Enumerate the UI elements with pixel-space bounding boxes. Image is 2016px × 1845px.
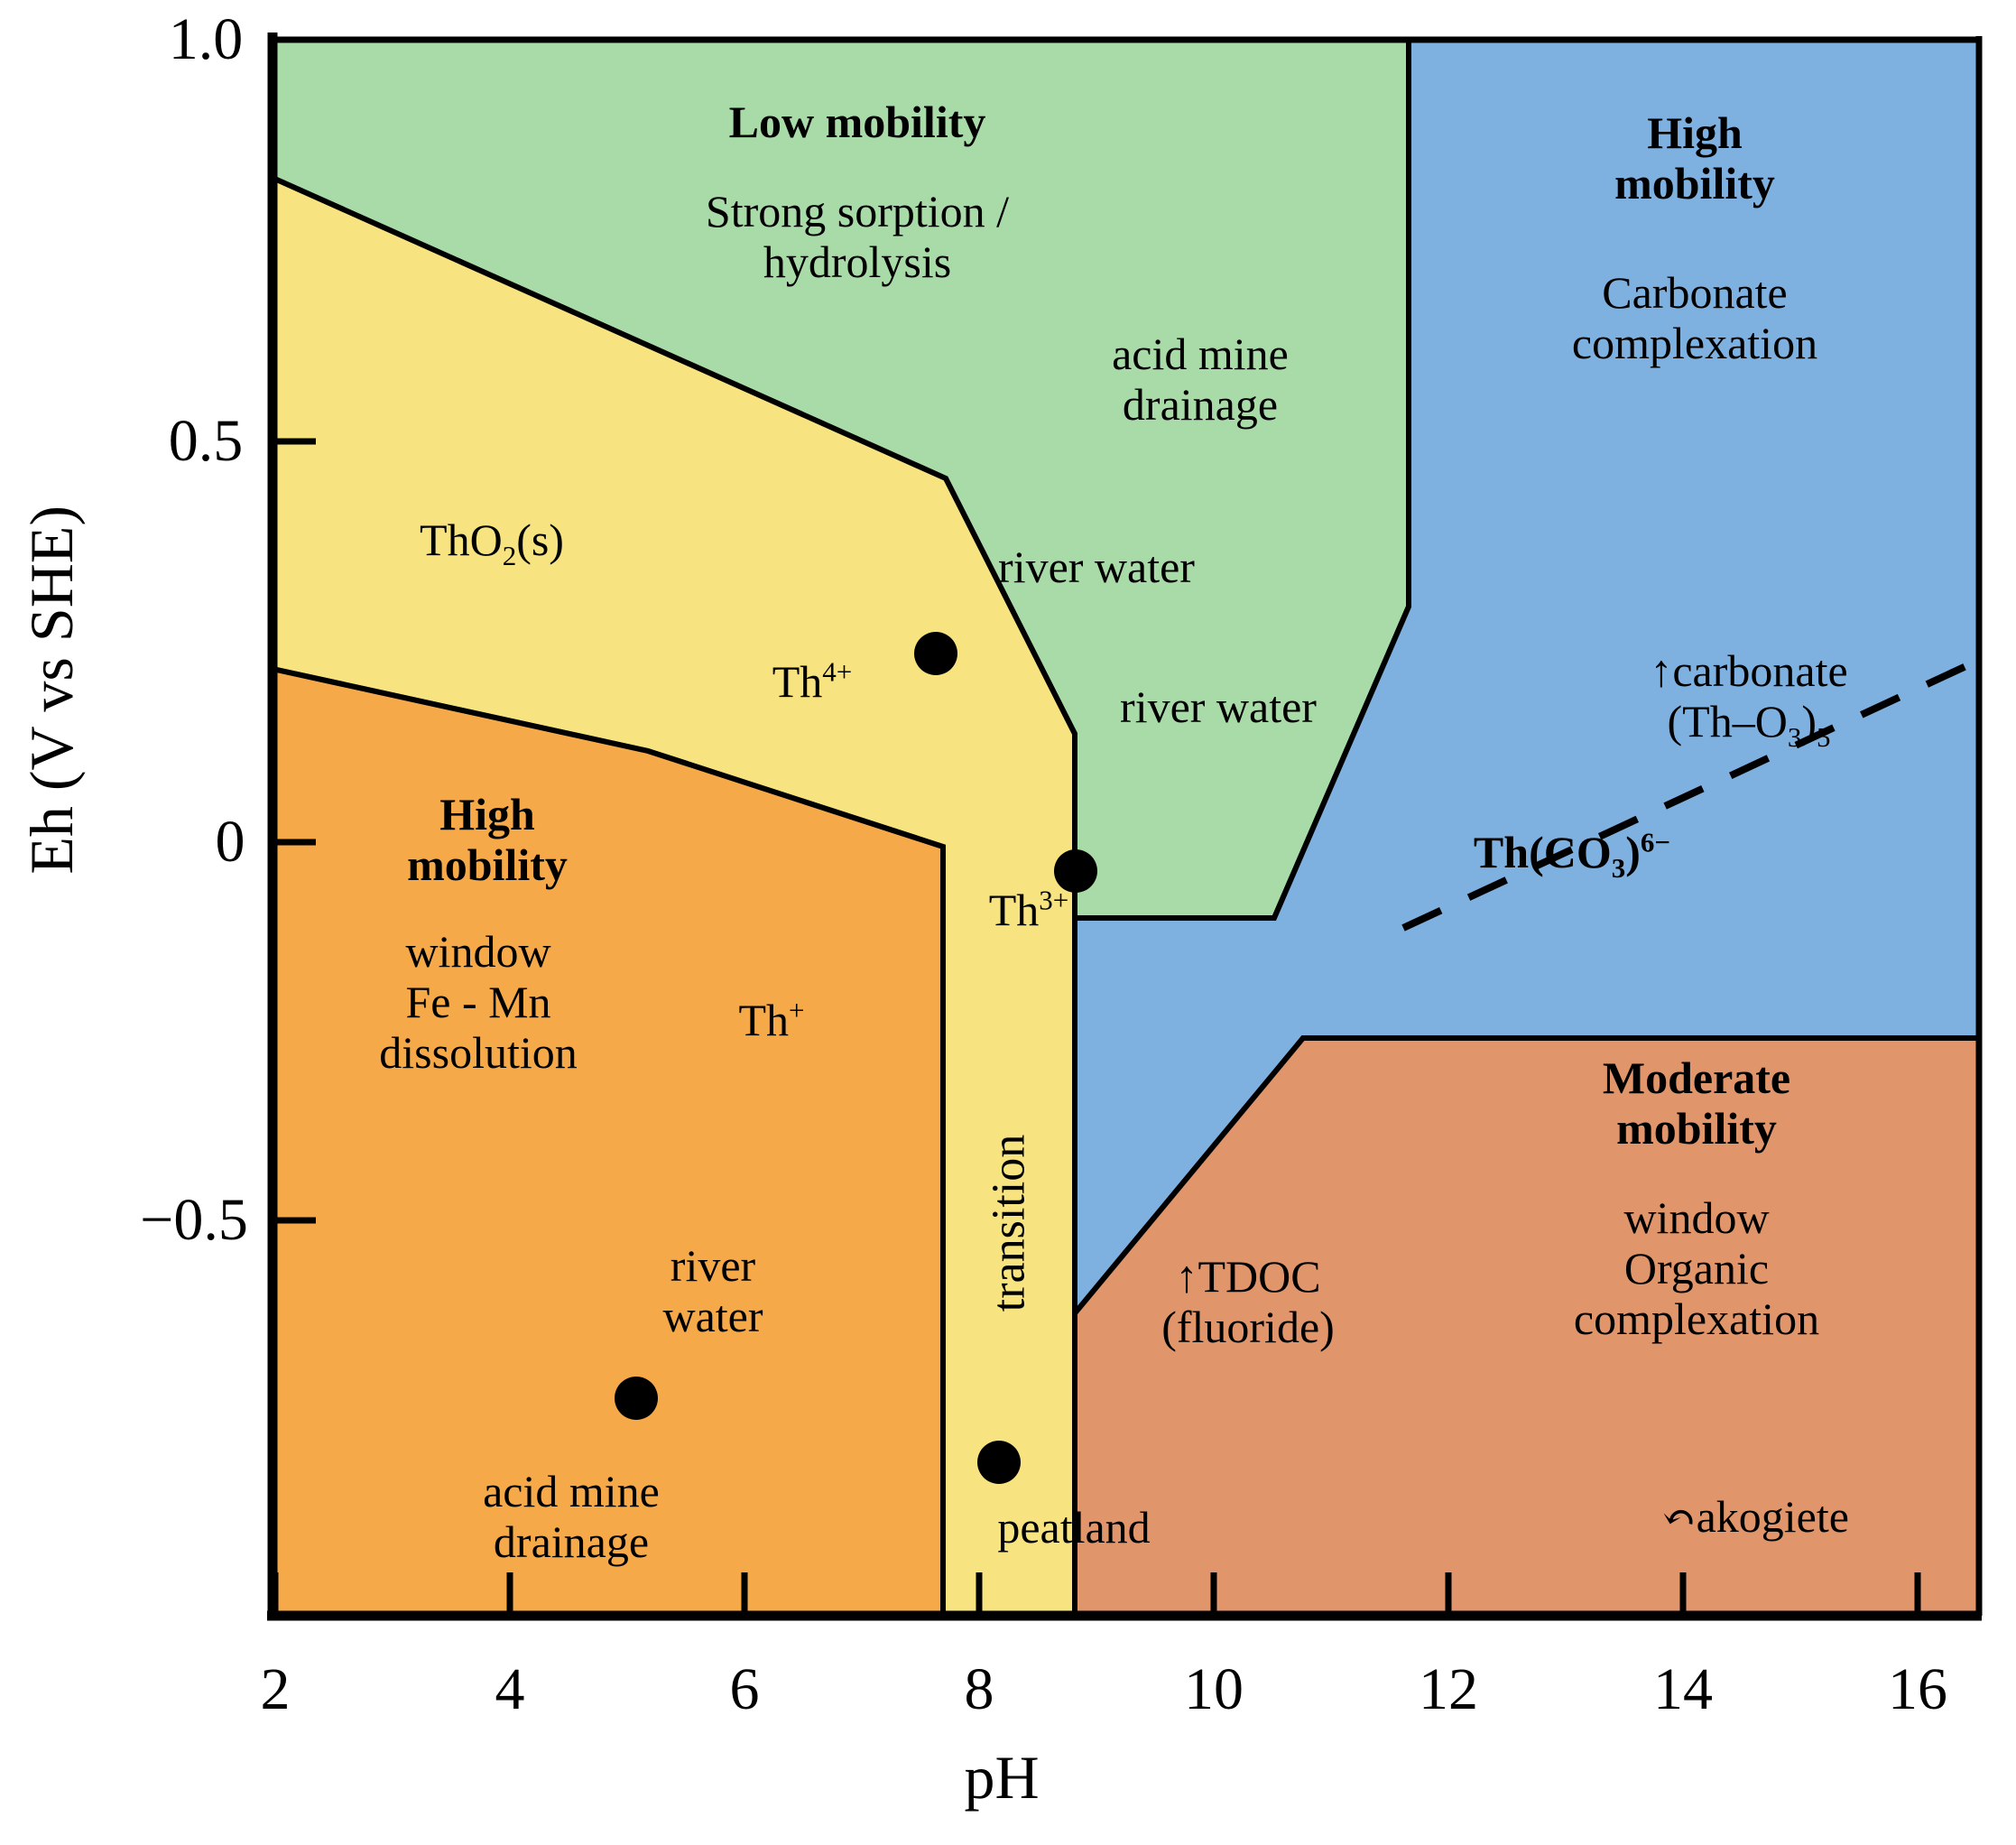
brown-tdoc-annotation: ↑TDOC (fluoride) xyxy=(1161,1251,1335,1352)
thp-superscript: + xyxy=(789,994,804,1025)
blue-species-prefix: Th(CO xyxy=(1474,827,1612,877)
data-point-river-water-1 xyxy=(914,632,957,675)
blue-species-mid: ) xyxy=(1625,827,1641,877)
brown-subtitle-line2: Organic xyxy=(1574,1243,1819,1293)
brown-tdoc-line1: ↑TDOC xyxy=(1161,1251,1335,1302)
blue-species-sup: 6− xyxy=(1641,826,1670,858)
orange-region-title: High mobility xyxy=(407,789,568,890)
green-region-title: Low mobility xyxy=(729,97,986,147)
th3plus-species-label: Th3+ xyxy=(989,885,1069,935)
orange-acid-mine-drainage-label: acid mine drainage xyxy=(483,1466,660,1567)
green-river-water-label-2: river water xyxy=(1120,681,1317,732)
x-tick-label-12: 12 xyxy=(1419,1655,1478,1724)
data-point-peatland xyxy=(977,1441,1021,1484)
thplus-species-label: Th+ xyxy=(738,995,804,1045)
tho2-prefix: ThO xyxy=(420,515,503,565)
blue-carbonate-line2: (Th–O3)5 xyxy=(1650,696,1847,754)
blue-region-title: High mobility xyxy=(1614,107,1775,209)
blue-carbonate-annotation: ↑carbonate (Th–O3)5 xyxy=(1650,645,1847,754)
y-tick-label-1.0: 1.0 xyxy=(169,5,244,74)
transition-zone-label: transition xyxy=(983,1135,1036,1312)
tho2-subscript: 2 xyxy=(503,540,517,571)
y-tick-label--0.5: −0.5 xyxy=(140,1186,248,1255)
orange-title-line2: mobility xyxy=(407,839,568,890)
orange-amd-line1: acid mine xyxy=(483,1466,660,1516)
curved-arrow-icon: ↷ xyxy=(1656,1491,1701,1544)
brown-title-line2: mobility xyxy=(1603,1103,1790,1154)
x-tick-label-8: 8 xyxy=(965,1655,994,1724)
x-tick-label-4: 4 xyxy=(495,1655,525,1724)
x-axis-title: pH xyxy=(964,1742,1039,1813)
blue-species-sub: 3 xyxy=(1612,852,1626,884)
blue-species-label: Th(CO3)6− xyxy=(1474,827,1670,885)
blue-title-line2: mobility xyxy=(1614,158,1775,209)
blue-carb-sub1: 3 xyxy=(1788,721,1802,753)
orange-river-water-label: river water xyxy=(662,1240,763,1341)
brown-region-subtitle: window Organic complexation xyxy=(1574,1192,1819,1344)
tho2-species-label: ThO2(s) xyxy=(420,515,564,572)
green-river-water-label-1: river water xyxy=(998,542,1195,592)
orange-subtitle-line2: Fe - Mn xyxy=(379,977,577,1027)
green-region-subtitle: Strong sorption / hydrolysis xyxy=(706,186,1009,287)
th3-prefix: Th xyxy=(989,885,1040,935)
orange-amd-line2: drainage xyxy=(483,1516,660,1567)
x-tick-label-2: 2 xyxy=(261,1655,291,1724)
blue-subtitle-line1: Carbonate xyxy=(1572,267,1817,318)
brown-subtitle-line1: window xyxy=(1574,1192,1819,1243)
th4plus-species-label: Th4+ xyxy=(772,656,853,707)
th4-prefix: Th xyxy=(772,656,823,707)
eh-ph-diagram: 1.0 0.5 0 −0.5 2 4 6 8 10 12 14 16 Eh (V… xyxy=(0,0,2016,1845)
blue-carb-sub2: 5 xyxy=(1817,721,1831,753)
orange-river-line1: river xyxy=(662,1240,763,1291)
blue-carb-prefix: (Th–O xyxy=(1668,696,1788,746)
y-axis-title: Eh (V vs SHE) xyxy=(16,505,88,875)
orange-region-subtitle: window Fe - Mn dissolution xyxy=(379,926,577,1078)
brown-subtitle-line3: complexation xyxy=(1574,1293,1819,1344)
y-tick-label-0.5: 0.5 xyxy=(169,407,244,476)
akogiete-text: akogiete xyxy=(1697,1491,1849,1542)
x-tick-label-10: 10 xyxy=(1184,1655,1244,1724)
green-amd-line1: acid mine xyxy=(1112,329,1289,379)
y-tick-label-0: 0 xyxy=(216,808,245,876)
orange-subtitle-line3: dissolution xyxy=(379,1027,577,1078)
th4-superscript: 4+ xyxy=(822,655,852,687)
green-subtitle-line2: hydrolysis xyxy=(706,236,1009,287)
green-amd-line2: drainage xyxy=(1112,379,1289,430)
th3-superscript: 3+ xyxy=(1039,884,1068,915)
orange-title-line1: High xyxy=(407,789,568,839)
brown-region-title: Moderate mobility xyxy=(1603,1052,1790,1154)
green-acid-mine-drainage-label: acid mine drainage xyxy=(1112,329,1289,430)
brown-tdoc-line2: (fluoride) xyxy=(1161,1302,1335,1352)
brown-akogiete-label: ↷akogiete xyxy=(1661,1491,1849,1542)
thp-prefix: Th xyxy=(738,995,789,1045)
blue-region-subtitle: Carbonate complexation xyxy=(1572,267,1817,368)
green-subtitle-line1: Strong sorption / xyxy=(706,186,1009,236)
tho2-suffix: (s) xyxy=(516,515,564,565)
x-tick-label-16: 16 xyxy=(1888,1655,1947,1724)
brown-title-line1: Moderate xyxy=(1603,1052,1790,1103)
blue-carb-mid: ) xyxy=(1801,696,1817,746)
peatland-label: peatland xyxy=(997,1502,1150,1553)
x-tick-label-14: 14 xyxy=(1653,1655,1713,1724)
blue-carbonate-line1: ↑carbonate xyxy=(1650,645,1847,696)
blue-subtitle-line2: complexation xyxy=(1572,318,1817,368)
data-point-river-water-3 xyxy=(615,1377,658,1420)
orange-river-line2: water xyxy=(662,1291,763,1341)
x-tick-label-6: 6 xyxy=(730,1655,760,1724)
orange-subtitle-line1: window xyxy=(379,926,577,977)
blue-title-line1: High xyxy=(1614,107,1775,158)
